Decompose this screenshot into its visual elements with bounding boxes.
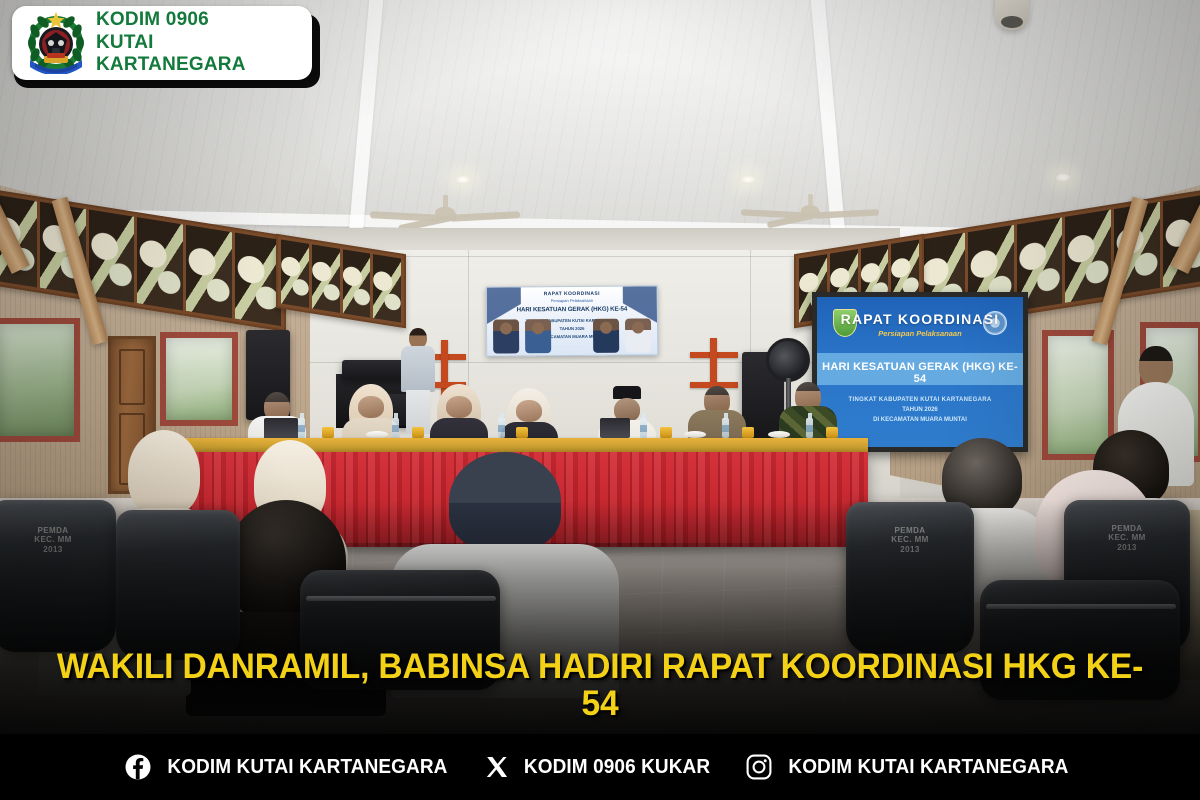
chair-mark-line-1: PEMDA (38, 526, 69, 535)
caption-headline: WAKILI DANRAMIL, BABINSA HADIRI RAPAT KO… (47, 648, 1153, 722)
slide-line-6: DI KECAMATAN MUARA MUNTAI (817, 417, 1023, 423)
event-banner: RAPAT KOORDINASI Persiapan Pelaksanaan H… (486, 285, 658, 356)
logo-badge: KODIM 0906 KUTAI KARTANEGARA (12, 6, 312, 80)
laptop (600, 418, 630, 438)
water-bottle (722, 418, 729, 438)
ceiling-fan (741, 194, 879, 222)
kodim-military-emblem-icon (26, 12, 86, 74)
chair-back: PEMDA KEC. MM 2013 (0, 500, 116, 652)
snack-box (742, 427, 754, 438)
banner-line-1: RAPAT KOORDINASI (487, 290, 657, 297)
snack-box (660, 427, 672, 438)
instagram-handle: KODIM KUTAI KARTANEGARA (788, 756, 1068, 779)
chair-mark-line-2: KEC. MM (34, 535, 71, 544)
chair-frame-rail (306, 596, 496, 601)
chair-frame-rail (986, 604, 1176, 609)
banner-portrait (525, 319, 551, 353)
banner-portrait (493, 319, 519, 353)
banner-portrait (593, 319, 619, 353)
logo-text: KODIM 0906 KUTAI KARTANEGARA (96, 9, 298, 76)
chair-mark-line-3: 2013 (43, 545, 62, 554)
chair-mark-line-1: PEMDA (895, 526, 926, 535)
plate (768, 431, 790, 438)
slide-line-4: TINGKAT KABUPATEN KUTAI KARTANEGARA (817, 397, 1023, 403)
social-facebook[interactable]: KODIM KUTAI KARTANEGARA (125, 754, 455, 780)
water-bottle (640, 418, 647, 438)
ceiling-downlight (1055, 173, 1071, 182)
ceiling-fan (370, 195, 520, 225)
chair-back (116, 510, 240, 660)
snack-box (826, 427, 838, 438)
facebook-handle: KODIM KUTAI KARTANEGARA (167, 756, 447, 779)
ceiling-speaker (995, 0, 1029, 30)
laptop (264, 418, 298, 440)
chair-mark-line-3: 2013 (1117, 543, 1136, 552)
banner-line-3: HARI KESATUAN GERAK (HKG) KE-54 (487, 305, 657, 313)
water-bottle (806, 418, 813, 438)
screenshot-root: RAPAT KOORDINASI Persiapan Pelaksanaan H… (0, 0, 1200, 800)
snack-box (516, 427, 528, 438)
facebook-icon (125, 754, 151, 780)
snack-box (412, 427, 424, 438)
ceiling-downlight (740, 175, 756, 184)
x-twitter-icon (484, 754, 510, 780)
projector-screen-frame: RAPAT KOORDINASI Persiapan Pelaksanaan H… (812, 292, 1028, 452)
snack-box (322, 427, 334, 438)
chair-back: PEMDA KEC. MM 2013 (846, 502, 974, 654)
chair-mark-line-3: 2013 (900, 545, 919, 554)
left-window (0, 318, 80, 442)
slide-subtitle: Persiapan Pelaksanaan (817, 329, 1023, 338)
logo-line-2: KUTAI KARTANEGARA (96, 32, 298, 77)
water-bottle (498, 418, 505, 438)
x-handle: KODIM 0906 KUKAR (524, 756, 710, 779)
chair-mark-line-2: KEC. MM (1108, 533, 1145, 542)
social-footer-bar: KODIM KUTAI KARTANEGARA KODIM 0906 KUKAR… (0, 734, 1200, 800)
banner-portrait (625, 318, 651, 352)
chair-mark-line-2: KEC. MM (891, 535, 928, 544)
plate (366, 431, 388, 438)
left-window (160, 332, 238, 426)
slide-line-5: TAHUN 2026 (817, 407, 1023, 413)
social-instagram[interactable]: KODIM KUTAI KARTANEGARA (746, 754, 1076, 780)
logo-line-1: KODIM 0906 (96, 9, 298, 31)
projector-screen: RAPAT KOORDINASI Persiapan Pelaksanaan H… (817, 297, 1023, 447)
slide-headline: HARI KESATUAN GERAK (HKG) KE-54 (817, 361, 1023, 385)
water-bottle (298, 418, 305, 438)
instagram-icon (746, 754, 772, 780)
chair-mark-line-1: PEMDA (1112, 524, 1143, 533)
water-bottle (392, 418, 399, 438)
slide-title: RAPAT KOORDINASI (817, 311, 1023, 327)
social-x[interactable]: KODIM 0906 KUKAR (484, 754, 715, 780)
plate (684, 431, 706, 438)
ceiling-downlight (455, 175, 471, 184)
